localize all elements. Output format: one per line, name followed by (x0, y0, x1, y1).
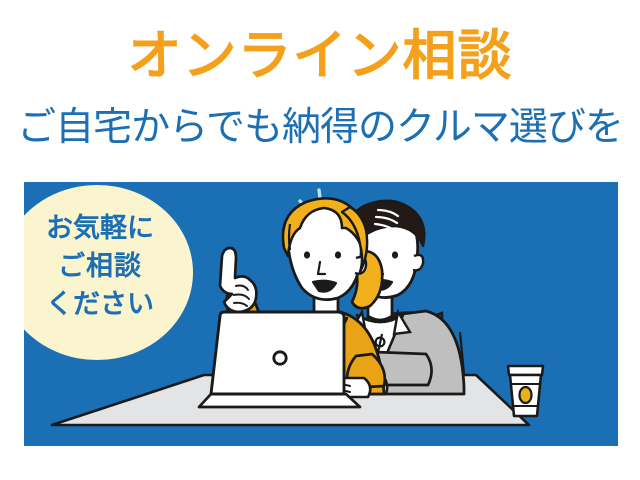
badge-line-2: ご相談 (24, 247, 193, 285)
laptop-logo-circle (274, 352, 286, 364)
open-laptop-shape (199, 312, 360, 407)
illustration-panel: お気軽に ご相談 ください (24, 182, 618, 446)
page-subtitle: ご自宅からでも納得のクルマ選びを (0, 104, 640, 152)
headline-block: オンライン相談 ご自宅からでも納得のクルマ選びを (0, 0, 640, 176)
page-title: オンライン相談 (0, 26, 640, 86)
takeaway-coffee-cup-shape (508, 366, 543, 416)
coffee-cup-logo (520, 387, 532, 403)
badge-line-1: お気軽に (24, 209, 193, 247)
consult-badge-text: お気軽に ご相談 ください (24, 209, 193, 323)
online-consultation-banner: オンライン相談 ご自宅からでも納得のクルマ選びを (0, 0, 640, 480)
badge-line-3: ください (24, 285, 193, 323)
